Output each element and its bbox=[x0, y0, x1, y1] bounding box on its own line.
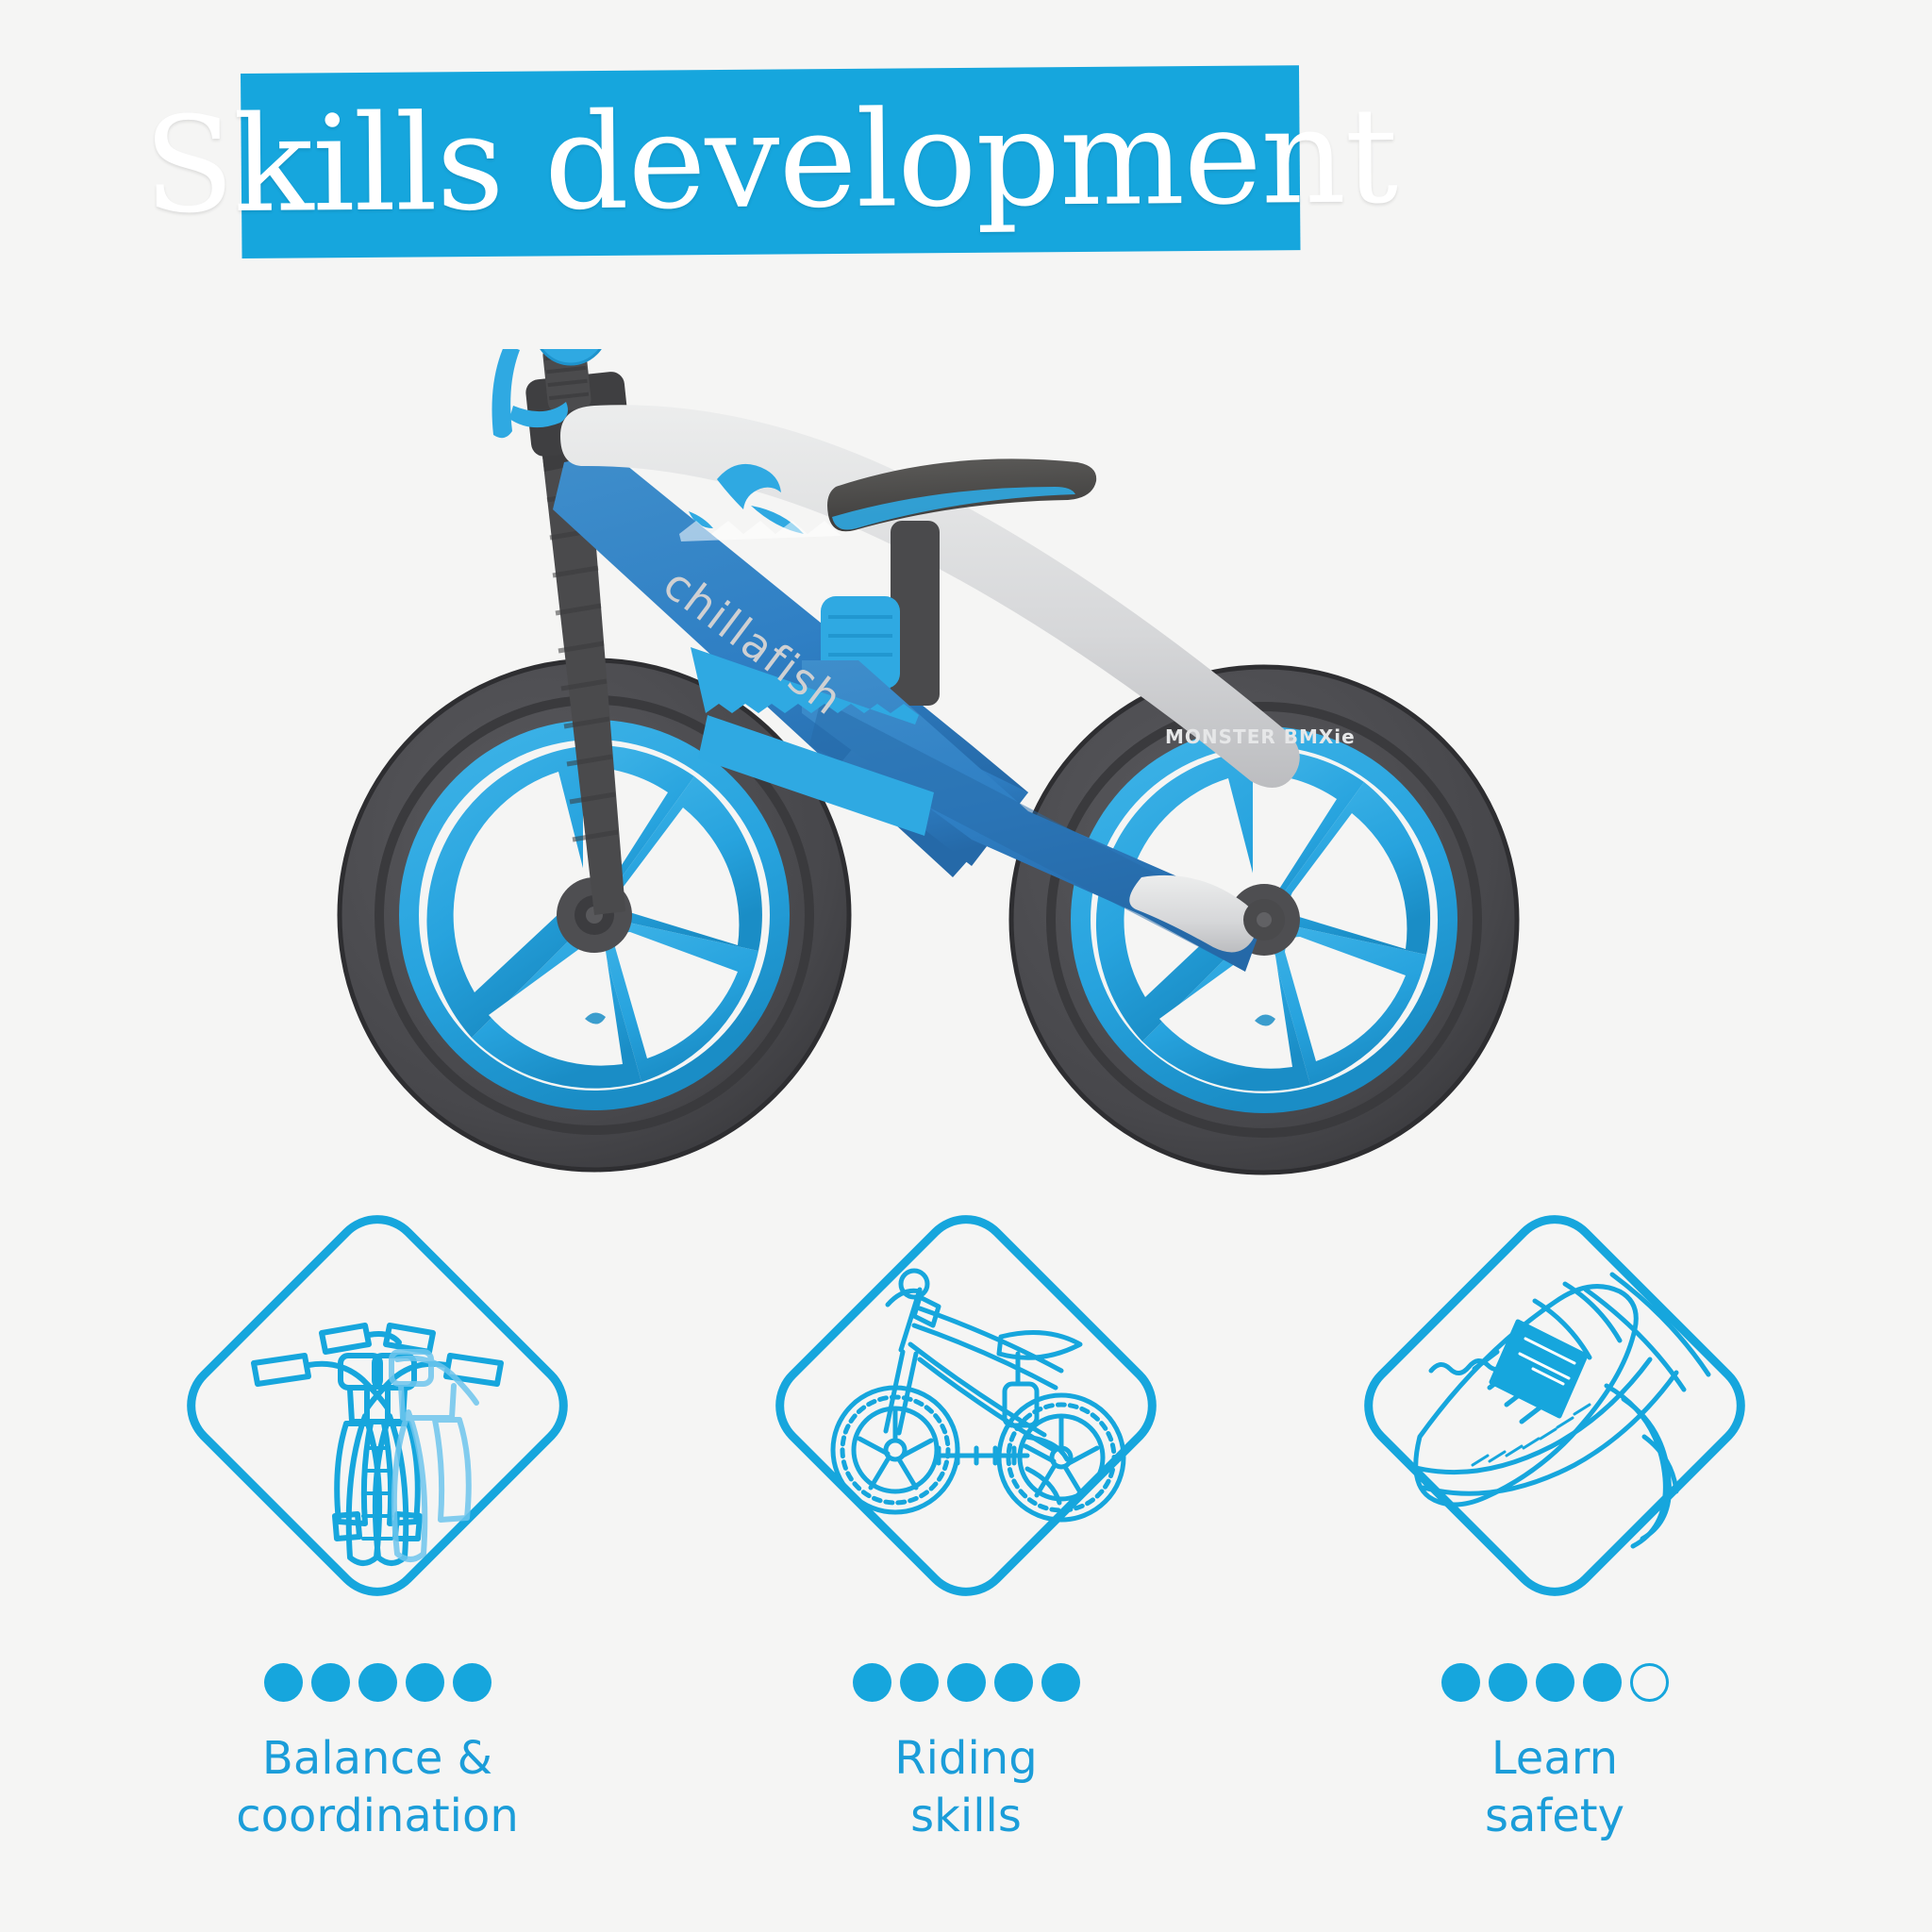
skill-label-riding-skills: Riding skills bbox=[894, 1730, 1037, 1846]
rating-dot bbox=[1041, 1663, 1080, 1702]
skill-label-balance-coordination: Balance & coordination bbox=[236, 1730, 519, 1846]
rating-dot bbox=[947, 1663, 986, 1702]
skill-label-line1: Balance & bbox=[236, 1730, 519, 1788]
skill-card-riding-skills: Riding skills bbox=[702, 1184, 1230, 1846]
skill-label-line2: safety bbox=[1485, 1788, 1624, 1845]
rating-dot bbox=[900, 1663, 939, 1702]
skill-label-line2: coordination bbox=[236, 1788, 519, 1845]
rating-dot bbox=[1489, 1663, 1527, 1702]
skills-row: Balance & coordination bbox=[113, 1184, 1819, 1901]
skill-card-balance-coordination: Balance & coordination bbox=[113, 1184, 641, 1846]
skill-label-line1: Riding bbox=[894, 1730, 1037, 1788]
skill-card-learn-safety: Learn safety bbox=[1291, 1184, 1819, 1846]
rating-dot bbox=[311, 1663, 350, 1702]
rating-dot bbox=[1441, 1663, 1480, 1702]
rating-dots-learn-safety bbox=[1441, 1663, 1669, 1702]
rating-dot bbox=[406, 1663, 444, 1702]
rating-dot bbox=[453, 1663, 491, 1702]
rating-dot bbox=[264, 1663, 303, 1702]
rating-dot bbox=[853, 1663, 891, 1702]
rating-dots-riding-skills bbox=[853, 1663, 1080, 1702]
skill-label-line1: Learn bbox=[1485, 1730, 1624, 1788]
rating-dots-balance-coordination bbox=[264, 1663, 491, 1702]
shoe-on-footrest-icon bbox=[1333, 1184, 1776, 1627]
infographic-canvas: Skills development bbox=[0, 0, 1932, 1932]
skill-label-line2: skills bbox=[894, 1788, 1037, 1845]
skill-label-learn-safety: Learn safety bbox=[1485, 1730, 1624, 1846]
rating-dot bbox=[994, 1663, 1033, 1702]
model-wordmark: MONSTER BMXie bbox=[1165, 725, 1356, 748]
rating-dot-empty bbox=[1630, 1663, 1669, 1702]
page-title: Skills development bbox=[241, 65, 1301, 258]
balance-bike-side-view-icon bbox=[744, 1184, 1188, 1627]
handlebars-front-view-icon bbox=[156, 1184, 599, 1627]
rating-dot bbox=[1583, 1663, 1622, 1702]
product-image: chillafish MONSTER BMXie bbox=[311, 349, 1623, 1198]
rating-dot bbox=[358, 1663, 397, 1702]
header-banner: Skills development bbox=[241, 65, 1301, 258]
rating-dot bbox=[1536, 1663, 1574, 1702]
